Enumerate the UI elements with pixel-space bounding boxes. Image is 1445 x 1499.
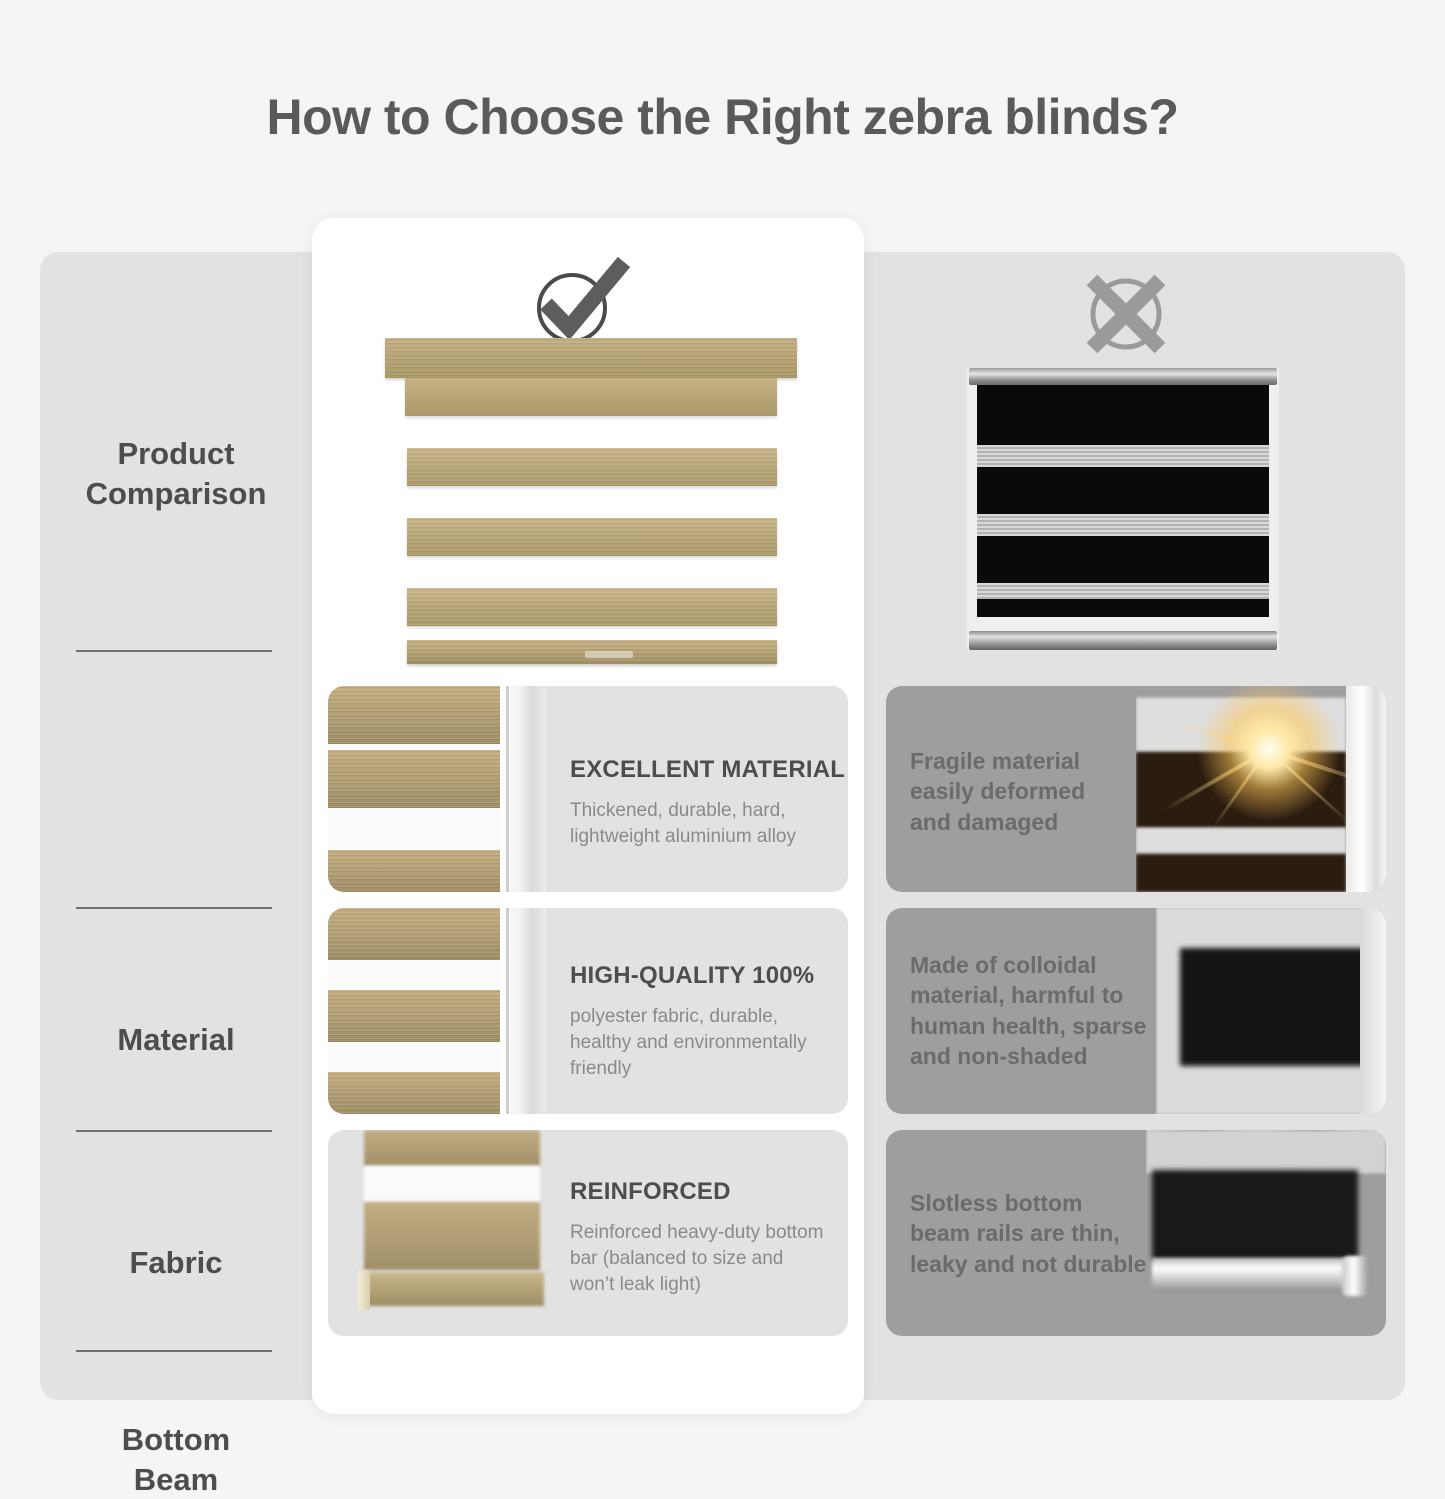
row-label-line-1: Product [40,434,312,474]
good-material-desc: Thickened, durable, hard, lightweight al… [570,798,828,850]
blind-slat [407,588,777,626]
desc-line: won’t leak light) [570,1272,840,1298]
good-bottom-beam-title: REINFORCED [570,1178,731,1206]
text-line: beam rails are thin, [910,1218,1160,1248]
good-material-title: EXCELLENT MATERIAL [570,756,845,784]
desc-line: Thickened, durable, hard, [570,798,828,824]
check-circle-icon [528,252,632,348]
desc-line: lightweight aluminium alloy [570,824,828,850]
row-divider-2 [76,907,272,909]
good-fabric-title: HIGH-QUALITY 100% [570,962,814,990]
good-material-photo [328,686,546,892]
bad-material-photo [1136,686,1386,892]
good-bottom-beam-photo [328,1130,558,1336]
blind-bottom-bar [407,640,777,664]
good-feature-card-fabric[interactable]: HIGH-QUALITY 100% polyester fabric, dura… [328,908,848,1114]
text-line: and damaged [910,807,1130,837]
bad-material-text: Fragile material easily deformed and dam… [910,746,1130,837]
bad-feature-card-material[interactable]: Fragile material easily deformed and dam… [886,686,1386,892]
row-label-panel: Product Comparison Material Fabric Botto… [40,252,312,1400]
text-line: material, harmful to [910,980,1160,1010]
row-label-fabric: Fabric [40,1243,312,1283]
row-label-line-1: Fabric [40,1243,312,1283]
row-label-line-2: Beam [40,1460,312,1499]
text-line: Fragile material [910,746,1130,776]
page-title: How to Choose the Right zebra blinds? [0,88,1445,146]
bad-fabric-photo [1156,908,1386,1114]
row-label-product-comparison: Product Comparison [40,434,312,513]
bad-feature-card-bottom-beam[interactable]: Slotless bottom beam rails are thin, lea… [886,1130,1386,1336]
good-feature-card-material[interactable]: EXCELLENT MATERIAL Thickened, durable, h… [328,686,848,892]
desc-line: polyester fabric, durable, [570,1004,838,1030]
row-label-line-1: Material [40,1020,312,1060]
good-feature-card-bottom-beam[interactable]: REINFORCED Reinforced heavy-duty bottom … [328,1130,848,1336]
row-label-line-1: Bottom [40,1420,312,1460]
row-divider-1 [76,650,272,652]
bad-bottom-beam-photo [1146,1130,1386,1336]
desc-line: bar (balanced to size and [570,1246,840,1272]
bad-feature-card-fabric[interactable]: Made of colloidal material, harmful to h… [886,908,1386,1114]
good-bottom-beam-desc: Reinforced heavy-duty bottom bar (balanc… [570,1220,840,1299]
blind-body [977,385,1269,617]
blind-slat [407,518,777,556]
blind-slat [407,448,777,486]
text-line: human health, sparse [910,1011,1160,1041]
cross-circle-icon [1078,266,1174,362]
row-label-bottom-beam: Bottom Beam [40,1420,312,1499]
row-label-line-2: Comparison [40,474,312,514]
desc-line: Reinforced heavy-duty bottom [570,1220,840,1246]
text-line: and non-shaded [910,1041,1160,1071]
text-line: Slotless bottom [910,1188,1160,1218]
blind-headrail [969,368,1277,385]
text-line: easily deformed [910,776,1130,806]
text-line: leaky and not durable [910,1249,1160,1279]
row-divider-4 [76,1350,272,1352]
blind-headrail [385,338,797,378]
row-divider-3 [76,1130,272,1132]
desc-line: healthy and environmentally [570,1030,838,1056]
good-fabric-photo [328,908,546,1114]
good-fabric-desc: polyester fabric, durable, healthy and e… [570,1004,838,1083]
text-line: Made of colloidal [910,950,1160,980]
bad-hero-blind-image [967,368,1279,650]
good-hero-blind-image [385,338,797,668]
row-label-material: Material [40,1020,312,1060]
blind-bottom-bar [969,631,1277,650]
bad-fabric-text: Made of colloidal material, harmful to h… [910,950,1160,1071]
bad-bottom-beam-text: Slotless bottom beam rails are thin, lea… [910,1188,1160,1279]
desc-line: friendly [570,1056,838,1082]
